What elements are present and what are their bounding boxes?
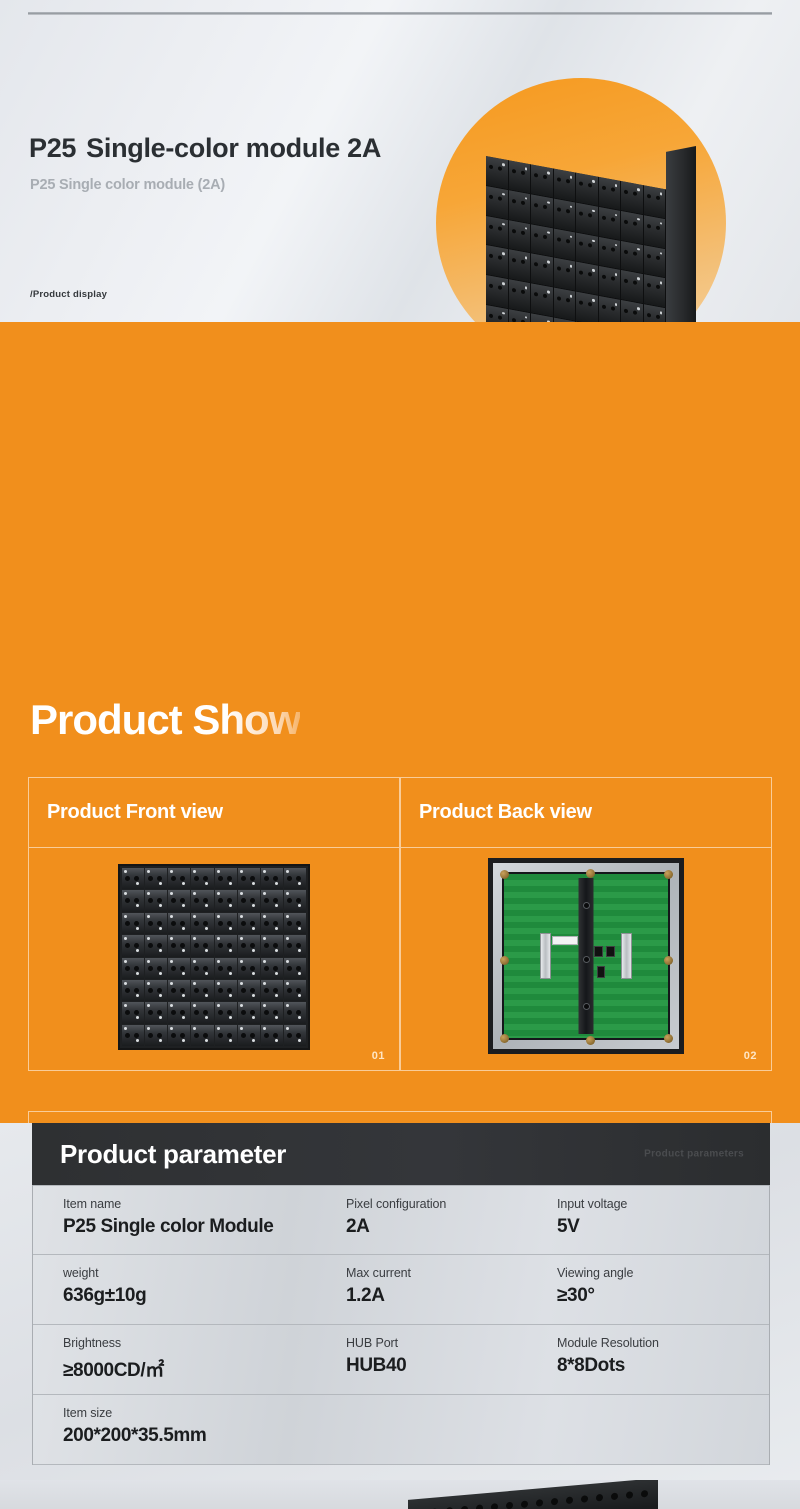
card-number-02: 02 [744, 1050, 757, 1062]
module-cell [599, 177, 622, 210]
parameter-key: Input voltage [557, 1197, 627, 1211]
led-cell [191, 913, 213, 934]
parameter-cell: Item nameP25 Single color Module [63, 1197, 273, 1238]
pcb-screw [500, 1034, 509, 1043]
top-divider-line [28, 12, 772, 15]
module-front-face [486, 156, 666, 322]
led-cell [145, 868, 167, 889]
pcb-screw [664, 1034, 673, 1043]
module-cell [621, 270, 644, 303]
parameter-cell: Input voltage5V [557, 1197, 627, 1238]
module-cell [531, 254, 554, 287]
module-cell [531, 283, 554, 316]
led-cell [261, 958, 283, 979]
module-cell [621, 300, 644, 322]
module-cell [621, 181, 644, 214]
module-hole [506, 1502, 513, 1509]
led-cell [191, 890, 213, 911]
table-row: Brightness≥8000CD/㎡HUB PortHUB40Module R… [33, 1325, 769, 1395]
led-cell [168, 1002, 190, 1023]
module-hole [611, 1493, 618, 1501]
next-section-peek [0, 1480, 800, 1509]
parameter-value: 200*200*35.5mm [63, 1425, 206, 1447]
card-number-01: 01 [372, 1050, 385, 1062]
led-cell [238, 958, 260, 979]
led-cell [238, 1002, 260, 1023]
led-cell [122, 890, 144, 911]
led-cell [145, 1025, 167, 1046]
led-cell [284, 958, 306, 979]
parameter-value: ≥30° [557, 1285, 633, 1307]
module-cell [599, 296, 622, 322]
pcb-screw [586, 1036, 595, 1045]
product-parameter-section: Product parameter Product parameters Ite… [0, 1123, 800, 1509]
module-hole [641, 1490, 648, 1498]
led-cell [122, 935, 144, 956]
module-cell [599, 236, 622, 269]
module-cell [531, 194, 554, 227]
led-cell [238, 913, 260, 934]
module-cell [554, 169, 577, 202]
parameter-cell: Brightness≥8000CD/㎡ [63, 1336, 164, 1382]
pcb-connector-right [621, 933, 632, 979]
led-cell [238, 980, 260, 1001]
module-cell [554, 198, 577, 231]
section-title-product-show: Product Show [30, 696, 300, 744]
module-cell [509, 220, 532, 253]
led-cell [261, 1025, 283, 1046]
led-cell [168, 935, 190, 956]
led-cell [261, 868, 283, 889]
module-cell [599, 266, 622, 299]
pcb-chip [594, 946, 603, 957]
led-cell [168, 868, 190, 889]
led-cell [122, 958, 144, 979]
card-back-view-heading: Product Back view [401, 778, 771, 848]
led-cell [238, 1025, 260, 1046]
led-cell [284, 890, 306, 911]
led-cell [284, 913, 306, 934]
led-cell [145, 935, 167, 956]
led-cell [191, 1025, 213, 1046]
led-cell [145, 913, 167, 934]
led-cell [261, 935, 283, 956]
parameter-key: Module Resolution [557, 1336, 659, 1350]
led-cell [191, 980, 213, 1001]
led-cell [284, 935, 306, 956]
module-hole [596, 1494, 603, 1502]
module-cell [644, 304, 667, 322]
parameter-key: Pixel configuration [346, 1197, 446, 1211]
pcb-screw [664, 870, 673, 879]
led-cell [215, 1002, 237, 1023]
module-hole [476, 1504, 483, 1509]
card-back-view-body: 02 [401, 848, 771, 1070]
parameter-ghost-heading: Product parameters [644, 1149, 744, 1160]
module-hole [566, 1497, 573, 1505]
led-cell [261, 913, 283, 934]
product-title-rest: Single-color module 2A [86, 133, 381, 163]
led-cell [168, 1025, 190, 1046]
parameter-cell: Viewing angle≥30° [557, 1266, 633, 1307]
parameter-key: Item name [63, 1197, 273, 1211]
led-cell [238, 935, 260, 956]
parameter-cell: Module Resolution8*8Dots [557, 1336, 659, 1377]
hero-led-module-image [486, 146, 696, 322]
led-cell [122, 980, 144, 1001]
pcb-center-rib [579, 878, 594, 1034]
parameter-value: ≥8000CD/㎡ [63, 1355, 164, 1382]
parameter-heading: Product parameter [60, 1139, 286, 1170]
product-show-section: Product Show Product Front view 01 Produ… [0, 322, 800, 1123]
module-cell [554, 258, 577, 291]
parameter-cell: HUB PortHUB40 [346, 1336, 406, 1377]
led-cell [261, 1002, 283, 1023]
module-hole [626, 1491, 633, 1499]
module-cell [621, 241, 644, 274]
module-cell [509, 249, 532, 282]
module-cell [486, 156, 509, 189]
module-cell [509, 160, 532, 193]
parameter-value: 1.2A [346, 1285, 411, 1307]
pcb-sticker-label [552, 936, 578, 945]
parameter-key: weight [63, 1266, 146, 1280]
parameter-value: 5V [557, 1216, 627, 1238]
parameter-value: HUB40 [346, 1355, 406, 1377]
module-cell [576, 202, 599, 235]
led-cell [284, 1025, 306, 1046]
parameter-key: Max current [346, 1266, 411, 1280]
pcb-chip [606, 946, 615, 957]
module-cell [554, 228, 577, 261]
parameter-value: 8*8Dots [557, 1355, 659, 1377]
led-cell [168, 913, 190, 934]
parameter-cell: Pixel configuration2A [346, 1197, 446, 1238]
pcb-green-board [502, 872, 670, 1040]
pcb-screw [586, 869, 595, 878]
led-cell [122, 1025, 144, 1046]
led-cell [284, 868, 306, 889]
parameter-value: P25 Single color Module [63, 1216, 273, 1238]
module-hole [551, 1498, 558, 1506]
pcb-connector-left [540, 933, 551, 979]
pcb-metal-frame [493, 863, 679, 1049]
led-cell [215, 935, 237, 956]
parameter-key: Viewing angle [557, 1266, 633, 1280]
led-cell [145, 890, 167, 911]
module-cell [509, 279, 532, 312]
module-cell [486, 305, 509, 322]
led-cell [238, 890, 260, 911]
back-view-pcb-image [488, 858, 684, 1054]
led-cell [122, 868, 144, 889]
table-row: Item nameP25 Single color ModulePixel co… [33, 1185, 769, 1255]
card-back-view: Product Back view [400, 777, 772, 1071]
parameter-key: HUB Port [346, 1336, 406, 1350]
led-cell [238, 868, 260, 889]
product-subtitle: P25 Single color module (2A) [30, 177, 225, 193]
parameter-table: Item nameP25 Single color ModulePixel co… [32, 1185, 770, 1465]
table-row: weight636g±10gMax current1.2AViewing ang… [33, 1255, 769, 1325]
front-view-module-image [118, 864, 310, 1050]
module-cell [576, 262, 599, 295]
led-cell [191, 935, 213, 956]
parameter-key: Item size [63, 1406, 206, 1420]
led-cell [261, 890, 283, 911]
led-cell [168, 890, 190, 911]
table-row: Item size200*200*35.5mm [33, 1395, 769, 1465]
parameter-value: 2A [346, 1216, 446, 1238]
led-cell [215, 913, 237, 934]
module-cell [599, 207, 622, 240]
card-front-view: Product Front view 01 [28, 777, 400, 1071]
module-cell [486, 216, 509, 249]
card-front-view-body: 01 [29, 848, 399, 1070]
led-cell [215, 1025, 237, 1046]
module-cell [486, 186, 509, 219]
module-cell [531, 164, 554, 197]
module-hole [521, 1500, 528, 1508]
product-detail-page: P25Single-color module 2A P25 Single col… [0, 0, 800, 1509]
pcb-screw [664, 956, 673, 965]
parameter-cell: Item size200*200*35.5mm [63, 1406, 206, 1447]
module-hole [536, 1499, 543, 1507]
module-cell [509, 190, 532, 223]
led-cell [145, 1002, 167, 1023]
led-cell [261, 980, 283, 1001]
led-cell [284, 1002, 306, 1023]
module-cell [621, 211, 644, 244]
led-cell [168, 958, 190, 979]
parameter-cell: Max current1.2A [346, 1266, 411, 1307]
hero-section: P25Single-color module 2A P25 Single col… [0, 0, 800, 322]
module-cell [576, 173, 599, 206]
module-cell [644, 215, 667, 248]
led-cell [168, 980, 190, 1001]
parameter-cell: weight636g±10g [63, 1266, 146, 1307]
led-cell [145, 958, 167, 979]
module-cell [486, 245, 509, 278]
module-cell [486, 275, 509, 308]
card-front-view-heading: Product Front view [29, 778, 399, 848]
next-section-led-module [408, 1480, 658, 1509]
led-cell [284, 980, 306, 1001]
pcb-chip [597, 966, 605, 978]
led-cell [215, 980, 237, 1001]
led-cell [191, 868, 213, 889]
led-cell [145, 980, 167, 1001]
module-cell [644, 274, 667, 307]
breadcrumb: /Product display [30, 289, 107, 300]
parameter-value: 636g±10g [63, 1285, 146, 1307]
parameter-key: Brightness [63, 1336, 164, 1350]
led-cell [215, 890, 237, 911]
module-cell [644, 245, 667, 278]
module-cell [554, 288, 577, 321]
page-title: P25Single-color module 2A [29, 133, 381, 164]
module-hole [581, 1495, 588, 1503]
led-cell [122, 913, 144, 934]
led-cell [215, 868, 237, 889]
led-cell [215, 958, 237, 979]
module-cell [531, 224, 554, 257]
module-cell [576, 232, 599, 265]
product-model: P25 [29, 133, 76, 163]
module-cell [576, 292, 599, 322]
led-cell [122, 1002, 144, 1023]
module-side-face [666, 146, 696, 322]
module-cell [644, 185, 667, 218]
parameter-header-bar: Product parameter Product parameters [32, 1123, 770, 1185]
led-cell [191, 958, 213, 979]
module-hole [491, 1503, 498, 1509]
led-cell [191, 1002, 213, 1023]
